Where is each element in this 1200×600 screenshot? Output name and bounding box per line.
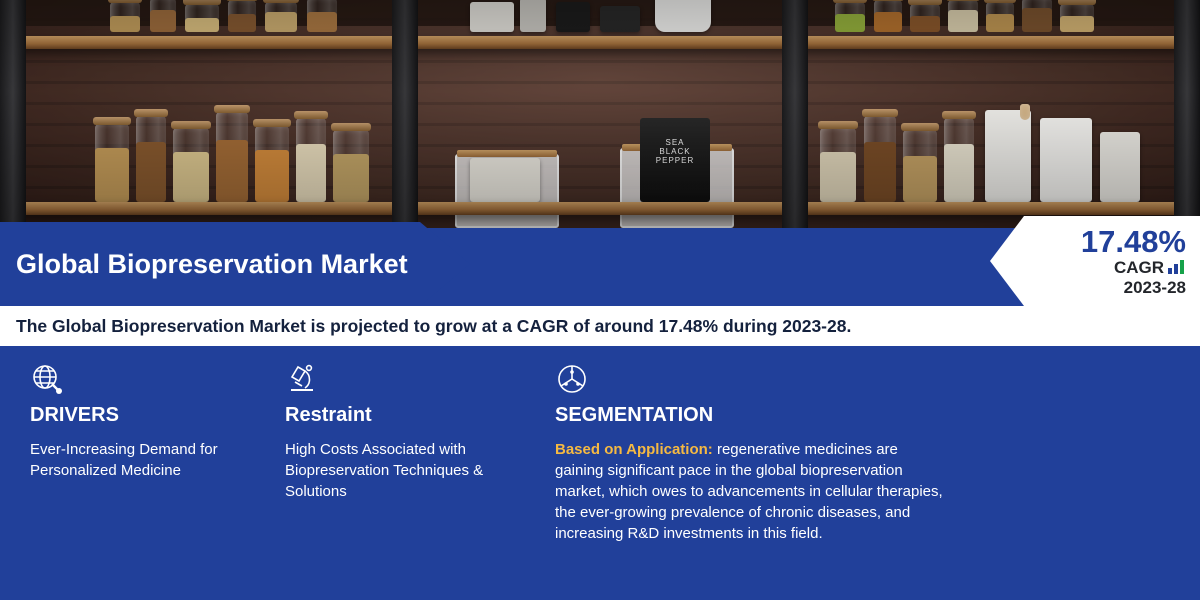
column-restraint: Restraint High Costs Associated with Bio… [285, 362, 520, 502]
body-panel: DRIVERS Ever-Increasing Demand for Perso… [0, 346, 1200, 600]
globe-icon [30, 362, 245, 396]
column-drivers: DRIVERS Ever-Increasing Demand for Perso… [30, 362, 245, 481]
segmentation-lead: Based on Application: [555, 441, 713, 458]
column-segmentation-text: Based on Application: regenerative medic… [555, 439, 945, 544]
subheadline-bar: The Global Biopreservation Market is pro… [0, 306, 1200, 346]
microscope-icon [285, 362, 520, 396]
title-ribbon: Global Biopreservation Market [0, 222, 470, 306]
column-drivers-heading: DRIVERS [30, 404, 245, 427]
page-title: Global Biopreservation Market [0, 249, 408, 280]
segmentation-pie-icon [555, 362, 945, 396]
cagr-badge: 17.48% CAGR 2023-28 [990, 216, 1200, 306]
hero-photo: SEABLACK PEPPER [0, 0, 1200, 228]
cagr-period: 2023-28 [1114, 278, 1186, 297]
subheadline-text: The Global Biopreservation Market is pro… [0, 316, 851, 337]
column-segmentation: SEGMENTATION Based on Application: regen… [555, 362, 945, 544]
infographic-page: SEABLACK PEPPER Global Biopreservation M… [0, 0, 1200, 600]
cagr-meta: CAGR 2023-28 [1114, 258, 1186, 297]
column-restraint-text: High Costs Associated with Biopreservati… [285, 439, 520, 502]
column-segmentation-heading: SEGMENTATION [555, 404, 945, 427]
column-restraint-heading: Restraint [285, 404, 520, 427]
cagr-label: CAGR [1114, 258, 1164, 277]
bar-chart-icon [1168, 259, 1186, 278]
photo-vignette [0, 0, 1200, 228]
cagr-value: 17.48% [1081, 226, 1186, 258]
column-drivers-text: Ever-Increasing Demand for Personalized … [30, 439, 245, 481]
